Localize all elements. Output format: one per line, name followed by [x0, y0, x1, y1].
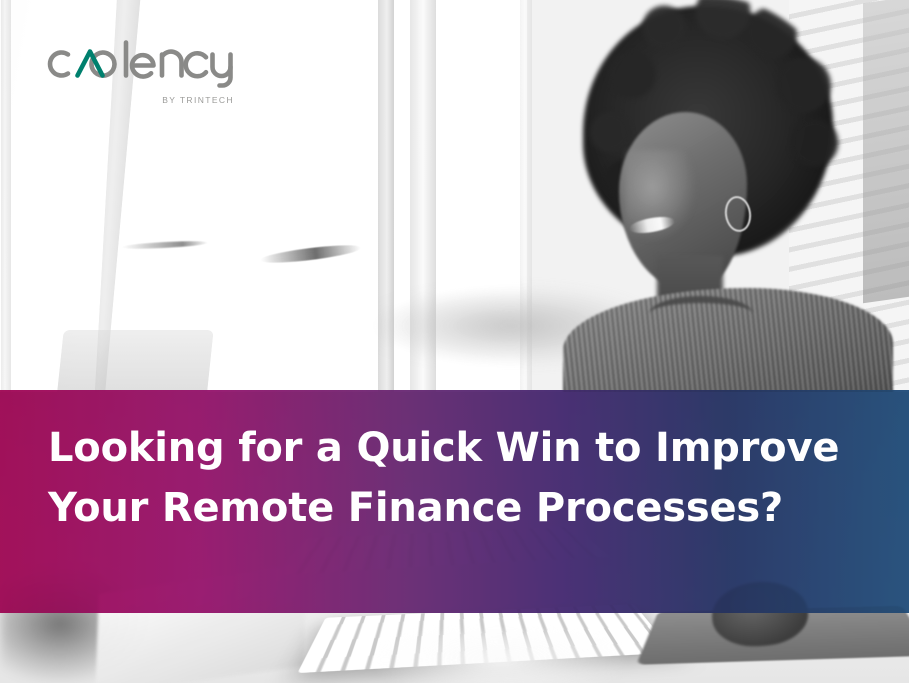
headline-line-1: Looking for a Quick Win to Improve: [48, 418, 838, 478]
hands: [376, 632, 626, 683]
person-portrait: [545, 0, 909, 400]
marketing-banner: Looking for a Quick Win to Improve Your …: [0, 0, 909, 683]
headline-line-2: Your Remote Finance Processes?: [48, 478, 838, 538]
cadency-wordmark-svg: [44, 40, 234, 88]
cadency-logo[interactable]: BY TRINTECH: [44, 40, 234, 102]
headline: Looking for a Quick Win to Improve Your …: [48, 418, 838, 538]
sweater-collar: [649, 296, 753, 332]
logo-tagline: BY TRINTECH: [162, 95, 234, 105]
